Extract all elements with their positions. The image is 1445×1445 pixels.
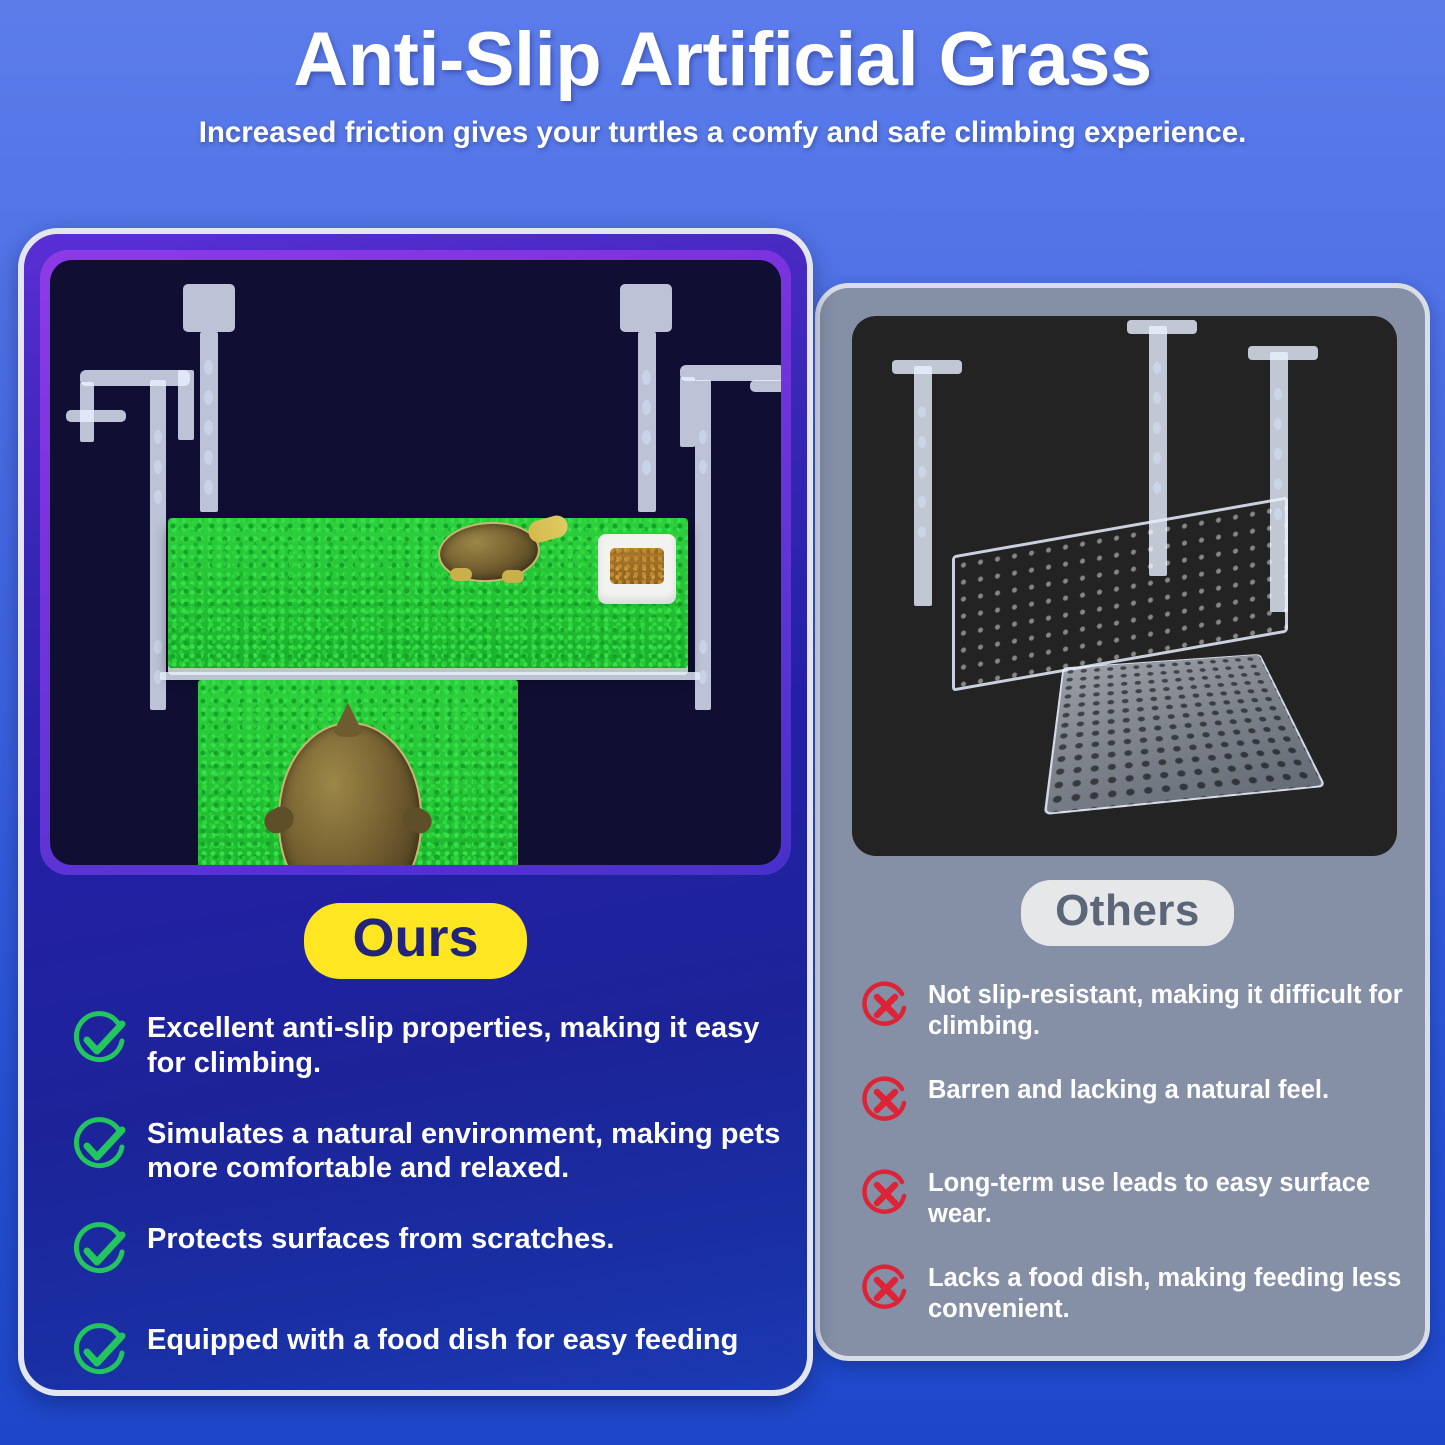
- ours-comparison-panel: Ours Excellent anti-slip properties, mak…: [18, 228, 813, 1396]
- list-item-label: Barren and lacking a natural feel.: [914, 1073, 1329, 1106]
- cross-circle-icon: [858, 1166, 914, 1227]
- others-badge: Others: [1021, 880, 1234, 946]
- check-circle-icon: [68, 1218, 132, 1287]
- ours-badge-container: Ours: [24, 903, 807, 979]
- list-item-label: Simulates a natural environment, making …: [132, 1113, 788, 1187]
- list-item-label: Lacks a food dish, making feeding less c…: [914, 1261, 1403, 1324]
- list-item: Barren and lacking a natural feel.: [858, 1073, 1403, 1134]
- list-item: Equipped with a food dish for easy feedi…: [68, 1319, 788, 1388]
- others-product-photo: [852, 316, 1397, 856]
- cross-circle-icon: [858, 1073, 914, 1134]
- ours-product-photo: [50, 260, 781, 865]
- header: Anti-Slip Artificial Grass Increased fri…: [0, 0, 1445, 150]
- list-item-label: Not slip-resistant, making it difficult …: [914, 978, 1403, 1041]
- others-badge-container: Others: [820, 880, 1435, 946]
- list-item: Lacks a food dish, making feeding less c…: [858, 1261, 1403, 1324]
- cross-circle-icon: [858, 1261, 914, 1322]
- page-subtitle: Increased friction gives your turtles a …: [0, 100, 1445, 150]
- list-item-label: Equipped with a food dish for easy feedi…: [132, 1319, 738, 1358]
- list-item-label: Long-term use leads to easy surface wear…: [914, 1166, 1403, 1229]
- check-circle-icon: [68, 1007, 132, 1076]
- ours-feature-list: Excellent anti-slip properties, making i…: [68, 1007, 788, 1396]
- list-item: Not slip-resistant, making it difficult …: [858, 978, 1403, 1041]
- check-circle-icon: [68, 1113, 132, 1182]
- ours-badge: Ours: [304, 903, 526, 979]
- list-item-label: Protects surfaces from scratches.: [132, 1218, 614, 1257]
- cross-circle-icon: [858, 978, 914, 1039]
- others-drawback-list: Not slip-resistant, making it difficult …: [858, 978, 1403, 1357]
- list-item: Protects surfaces from scratches.: [68, 1218, 788, 1287]
- list-item: Long-term use leads to easy surface wear…: [858, 1166, 1403, 1229]
- page-title: Anti-Slip Artificial Grass: [0, 0, 1445, 100]
- check-circle-icon: [68, 1319, 132, 1388]
- list-item-label: Excellent anti-slip properties, making i…: [132, 1007, 788, 1081]
- others-comparison-panel: Others Not slip-resistant, making it dif…: [815, 283, 1430, 1361]
- ours-photo-frame: [40, 250, 791, 875]
- list-item: Excellent anti-slip properties, making i…: [68, 1007, 788, 1081]
- list-item: Simulates a natural environment, making …: [68, 1113, 788, 1187]
